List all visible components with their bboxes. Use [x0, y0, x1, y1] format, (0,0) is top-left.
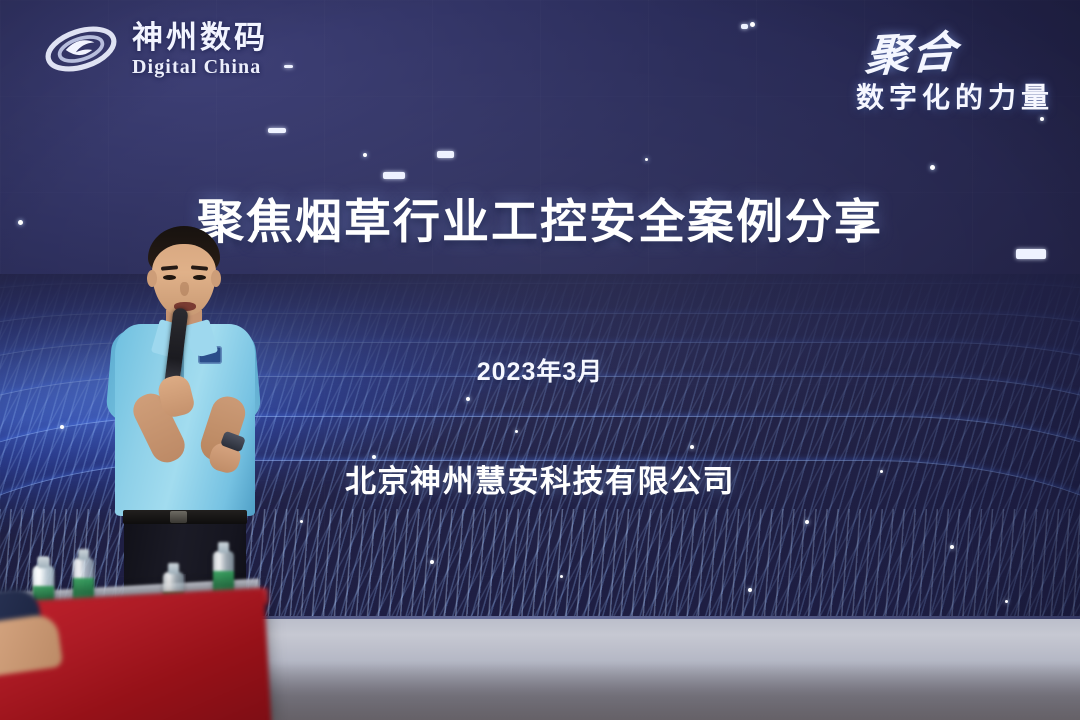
particle-dot — [805, 520, 809, 524]
speaker-eye-right — [193, 275, 206, 280]
particle-dot — [690, 445, 694, 449]
particle-dot — [430, 560, 434, 564]
particle-dash — [741, 24, 748, 29]
brand-cn-name: 神州数码 — [132, 22, 268, 53]
particle-dash — [437, 151, 454, 158]
particle-dash — [268, 128, 286, 133]
particle-dot — [1040, 117, 1044, 121]
digital-china-swirl-icon — [44, 20, 118, 78]
particle-dot — [60, 425, 64, 429]
digital-china-logo: 神州数码 Digital China — [44, 20, 268, 78]
particle-dot — [950, 545, 954, 549]
particle-dot — [645, 158, 648, 161]
speaker-ear-right — [211, 270, 221, 287]
particle-dot — [930, 165, 935, 170]
speaker-nose — [180, 282, 189, 296]
speaker-ear-left — [147, 270, 157, 287]
event-calligraphy: 聚合 — [864, 16, 961, 85]
particle-dash — [284, 65, 293, 68]
event-theme-logo: 聚合 数字化的力量 — [856, 18, 1054, 116]
particle-dash — [383, 172, 405, 179]
speaker-figure — [98, 226, 273, 626]
particle-dot — [748, 588, 752, 592]
brand-en-name: Digital China — [132, 57, 268, 77]
speaker-belt-buckle — [170, 511, 187, 523]
particle-dot — [363, 153, 367, 157]
speaker-eye-left — [163, 275, 176, 280]
attendee-arm — [0, 613, 63, 677]
particle-dot — [300, 520, 303, 523]
conference-photo: 神州数码 Digital China 聚合 数字化的力量 聚焦烟草行业工控安全案… — [0, 0, 1080, 720]
particle-dot — [515, 430, 518, 433]
particle-dot — [466, 397, 470, 401]
digital-china-wordmark: 神州数码 Digital China — [132, 22, 268, 77]
particle-dot — [560, 575, 563, 578]
particle-dot — [1005, 600, 1008, 603]
particle-dot — [750, 22, 755, 27]
